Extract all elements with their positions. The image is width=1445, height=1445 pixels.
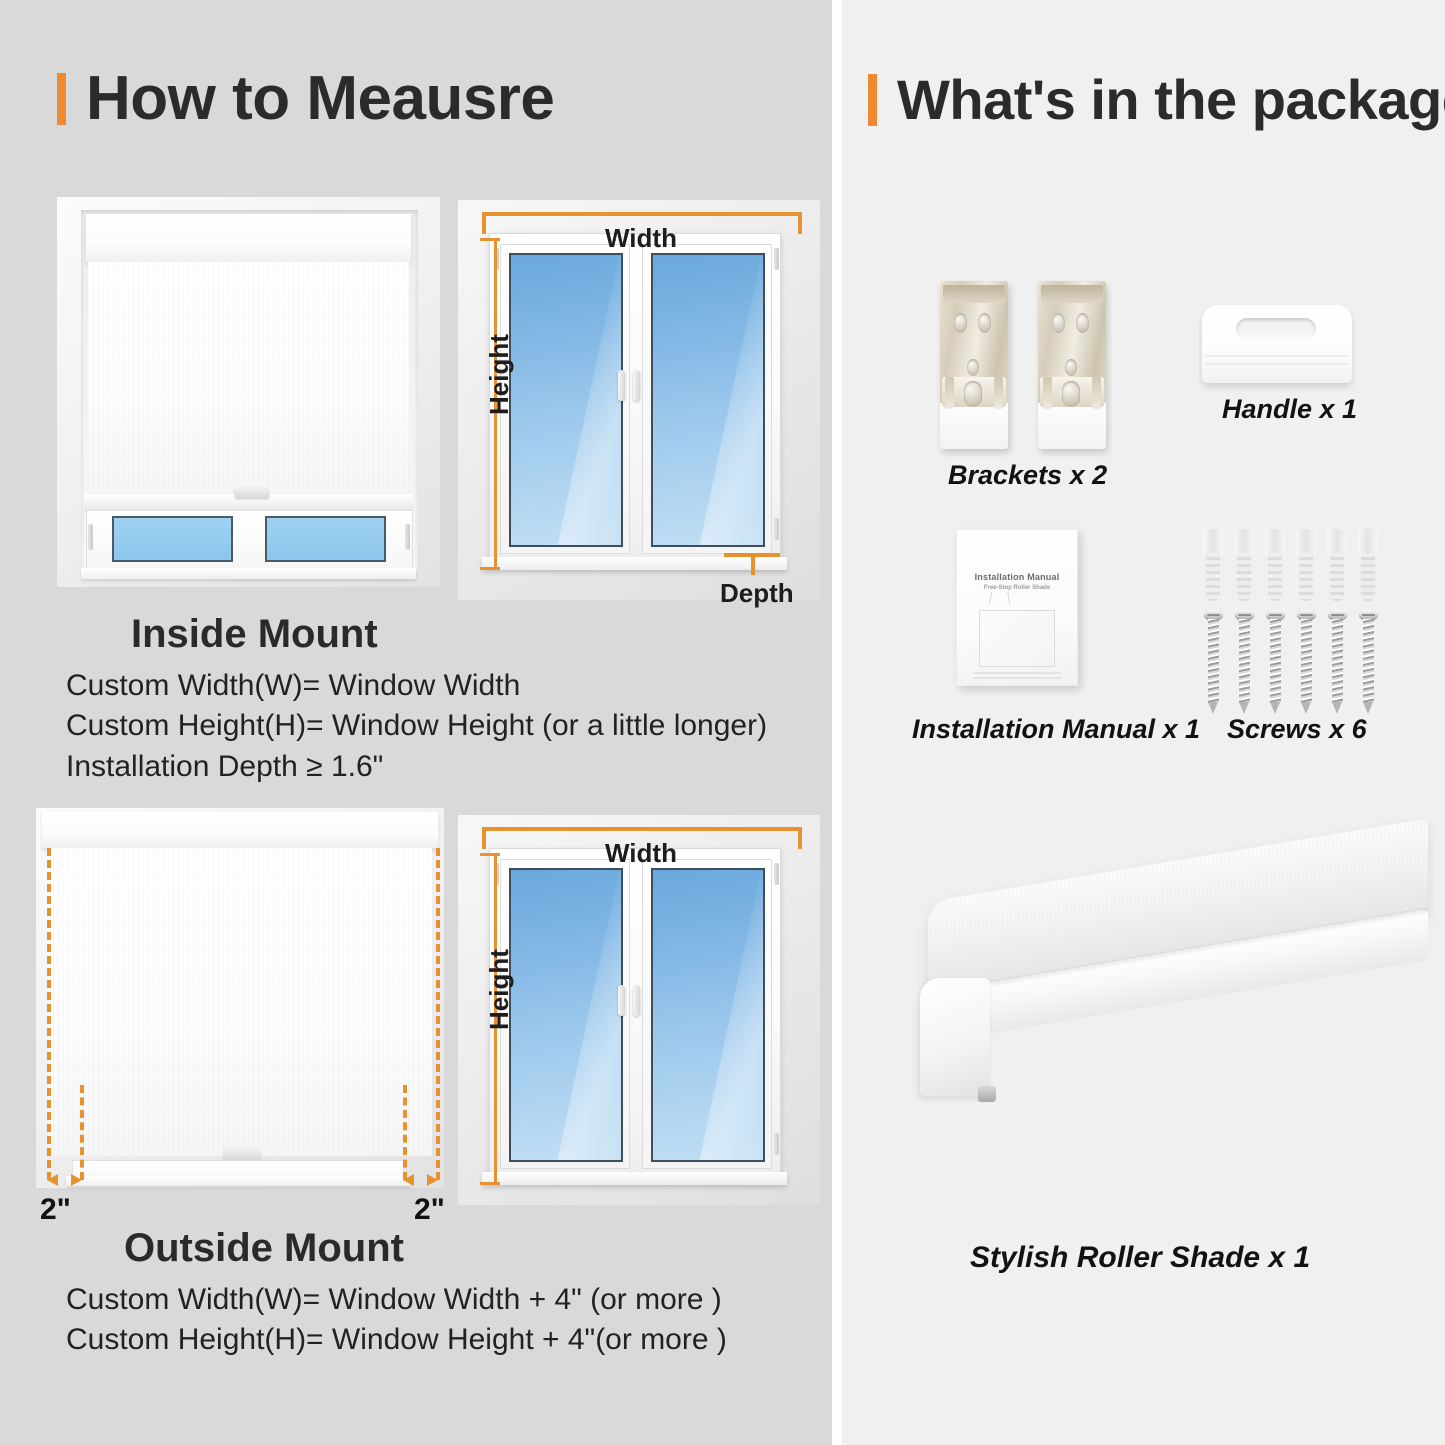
glass-pane-right xyxy=(651,868,765,1162)
bracket-hole xyxy=(978,313,991,333)
right-panel: What's in the package Brackets x 2 xyxy=(842,0,1445,1445)
screw-tip xyxy=(1208,702,1218,714)
right-heading-text: What's in the package xyxy=(897,72,1445,128)
width-dim-cap-right xyxy=(798,212,802,234)
width-dim-cap-right xyxy=(798,827,802,849)
anchor-body xyxy=(1268,553,1282,601)
glass-pane-left xyxy=(509,253,623,547)
roller-shade-end-cap xyxy=(920,978,990,1096)
left-panel-heading: How to Meausre xyxy=(57,68,554,130)
width-dimension-line xyxy=(482,827,802,831)
overhang-label-left: 2" xyxy=(40,1193,71,1227)
screws-label: Screws x 6 xyxy=(1227,714,1367,745)
anchor-head xyxy=(1358,529,1378,555)
screw-shaft xyxy=(1208,619,1219,703)
window-sill xyxy=(482,557,787,570)
glass-pane-right xyxy=(265,516,386,562)
left-panel: How to Meausre xyxy=(0,0,832,1445)
screw-tip xyxy=(1363,702,1373,714)
shade-pull-tab xyxy=(224,1148,260,1160)
shade-fabric xyxy=(88,262,409,494)
bracket-top-flange xyxy=(943,285,1005,303)
inside-mount-measure-figure: Width Height Depth xyxy=(458,200,820,600)
manual-cover-doodle xyxy=(985,592,1049,604)
accent-bar-icon xyxy=(868,74,877,126)
right-panel-heading: What's in the package xyxy=(868,72,1445,128)
outside-mount-line-2: Custom Height(H)= Window Height + 4"(or … xyxy=(66,1322,727,1357)
frame-hinge-bottom xyxy=(774,1133,779,1155)
screw-shaft xyxy=(1239,619,1250,703)
outside-mount-lines: Custom Width(W)= Window Width + 4" (or m… xyxy=(66,1282,727,1363)
anchor-head xyxy=(1327,529,1347,555)
shade-fabric xyxy=(48,848,432,1156)
screw-shaft xyxy=(1301,619,1312,703)
overhang-arrows-right xyxy=(403,1174,438,1186)
screw-icon xyxy=(1328,610,1347,714)
inside-mount-title: Inside Mount xyxy=(131,612,378,657)
screw-tip xyxy=(1301,702,1311,714)
outside-mount-title: Outside Mount xyxy=(124,1226,404,1271)
manual-icon: Installation Manual Free-Stop Roller Sha… xyxy=(956,529,1078,686)
brackets-label: Brackets x 2 xyxy=(948,460,1107,491)
window-handle-left xyxy=(618,370,625,401)
screw-tip xyxy=(1270,702,1280,714)
width-label: Width xyxy=(605,838,677,869)
overhang-arrows-left xyxy=(47,1174,82,1186)
screw-shaft xyxy=(1270,619,1281,703)
inside-mount-lines: Custom Width(W)= Window Width Custom Hei… xyxy=(66,668,767,789)
manual-cover-subtitle: Free-Stop Roller Shade xyxy=(957,585,1077,591)
anchor-head xyxy=(1296,529,1316,555)
bracket-slot xyxy=(994,377,1003,409)
sash-hinge-left xyxy=(88,524,93,550)
anchor-body xyxy=(1361,553,1375,601)
height-label: Height xyxy=(484,334,515,415)
panel-divider xyxy=(832,0,842,1445)
screw-icon xyxy=(1266,610,1285,714)
height-label: Height xyxy=(484,949,515,1030)
manual-cover-illustration xyxy=(979,610,1055,667)
screw-icon xyxy=(1359,610,1378,714)
manual-label: Installation Manual x 1 xyxy=(912,714,1200,745)
handle-icon xyxy=(1202,305,1352,383)
infographic-page: How to Meausre xyxy=(0,0,1445,1445)
height-dim-cap-top xyxy=(480,853,500,856)
screw-shaft xyxy=(1363,619,1374,703)
wall-anchor-icon xyxy=(1327,529,1347,601)
handle-label: Handle x 1 xyxy=(1222,394,1357,425)
manual-footer-line xyxy=(973,672,1061,674)
bracket-hole xyxy=(954,313,967,333)
bracket-top-flange xyxy=(1041,285,1103,303)
shade-valance xyxy=(42,812,438,849)
bracket-hole xyxy=(967,359,979,376)
bracket-icon xyxy=(940,281,1008,449)
window-handle-left xyxy=(618,985,625,1016)
height-dim-cap-bottom xyxy=(480,1182,500,1185)
width-dim-cap-left xyxy=(482,212,486,234)
bracket-base xyxy=(940,403,1008,449)
height-dim-cap-top xyxy=(480,238,500,241)
shade-valance xyxy=(86,214,411,263)
depth-label: Depth xyxy=(720,578,794,609)
screw-icon xyxy=(1235,610,1254,714)
window-sill xyxy=(482,1172,787,1185)
glass-pane-left xyxy=(509,868,623,1162)
arrow-left-icon xyxy=(403,1174,414,1186)
inside-mount-line-1: Custom Width(W)= Window Width xyxy=(66,668,767,703)
bracket-hole xyxy=(1076,313,1089,333)
bracket-slot xyxy=(1043,377,1052,409)
frame-hinge-top xyxy=(774,863,779,885)
wall-anchor-icon xyxy=(1265,529,1285,601)
glass-pane-left xyxy=(112,516,233,562)
height-dim-cap-bottom xyxy=(480,567,500,570)
manual-cover-title: Installation Manual xyxy=(957,572,1077,582)
arrow-left-icon xyxy=(47,1174,58,1186)
roller-shade-label: Stylish Roller Shade x 1 xyxy=(970,1241,1310,1275)
bracket-slot xyxy=(1092,377,1101,409)
bracket-hole xyxy=(1052,313,1065,333)
window-sill xyxy=(66,1176,410,1186)
roller-shade-icon xyxy=(892,880,1437,1190)
inside-mount-shade-figure xyxy=(57,197,440,587)
bracket-icon xyxy=(1038,281,1106,449)
screw-shaft xyxy=(1332,619,1343,703)
screw-tip xyxy=(1239,702,1249,714)
accent-bar-icon xyxy=(57,73,66,125)
bracket-keyhole xyxy=(964,381,982,407)
screw-icon xyxy=(1297,610,1316,714)
anchor-head xyxy=(1234,529,1254,555)
anchor-body xyxy=(1299,553,1313,601)
depth-dim-cap xyxy=(751,553,755,575)
bracket-slot xyxy=(945,377,954,409)
bracket-hole xyxy=(1065,359,1077,376)
outside-mount-measure-figure: Width Height xyxy=(458,815,820,1205)
width-label: Width xyxy=(605,223,677,254)
arrow-right-icon xyxy=(71,1174,82,1186)
anchor-body xyxy=(1206,553,1220,601)
outside-mount-line-1: Custom Width(W)= Window Width + 4" (or m… xyxy=(66,1282,727,1317)
overhang-dashed-line-right xyxy=(436,848,440,1180)
overhang-inner-dashed-right xyxy=(403,1085,407,1180)
wall-anchor-icon xyxy=(1296,529,1316,601)
handle-slot xyxy=(1236,318,1316,340)
bracket-keyhole xyxy=(1062,381,1080,407)
window-sill xyxy=(81,568,416,579)
anchor-head xyxy=(1203,529,1223,555)
bracket-base xyxy=(1038,403,1106,449)
width-dim-cap-left xyxy=(482,827,486,849)
width-dimension-line xyxy=(482,212,802,216)
left-heading-text: How to Meausre xyxy=(86,68,554,130)
overhang-dashed-line-left xyxy=(47,848,51,1180)
window-handle-right xyxy=(633,985,640,1016)
overhang-label-right: 2" xyxy=(414,1193,445,1227)
handle-groove xyxy=(1206,363,1348,365)
outside-mount-shade-figure xyxy=(36,808,444,1188)
screw-tip xyxy=(1332,702,1342,714)
handle-groove xyxy=(1206,355,1348,357)
manual-footer-line xyxy=(973,677,1061,679)
screw-icon xyxy=(1204,610,1223,714)
wall-anchor-icon xyxy=(1358,529,1378,601)
overhang-inner-dashed-left xyxy=(80,1085,84,1180)
frame-hinge-bottom xyxy=(774,518,779,540)
glass-pane-right xyxy=(651,253,765,547)
frame-hinge-top xyxy=(774,248,779,270)
shade-pull-tab xyxy=(235,487,269,498)
wall-anchor-icon xyxy=(1234,529,1254,601)
sash-hinge-right xyxy=(405,524,410,550)
inside-mount-line-2: Custom Height(H)= Window Height (or a li… xyxy=(66,708,767,743)
wall-anchor-icon xyxy=(1203,529,1223,601)
anchor-body xyxy=(1237,553,1251,601)
anchor-head xyxy=(1265,529,1285,555)
roller-shade-pin xyxy=(978,1086,996,1102)
arrow-right-icon xyxy=(427,1174,438,1186)
window-handle-right xyxy=(633,370,640,401)
inside-mount-line-3: Installation Depth ≥ 1.6" xyxy=(66,749,767,784)
anchor-body xyxy=(1330,553,1344,601)
